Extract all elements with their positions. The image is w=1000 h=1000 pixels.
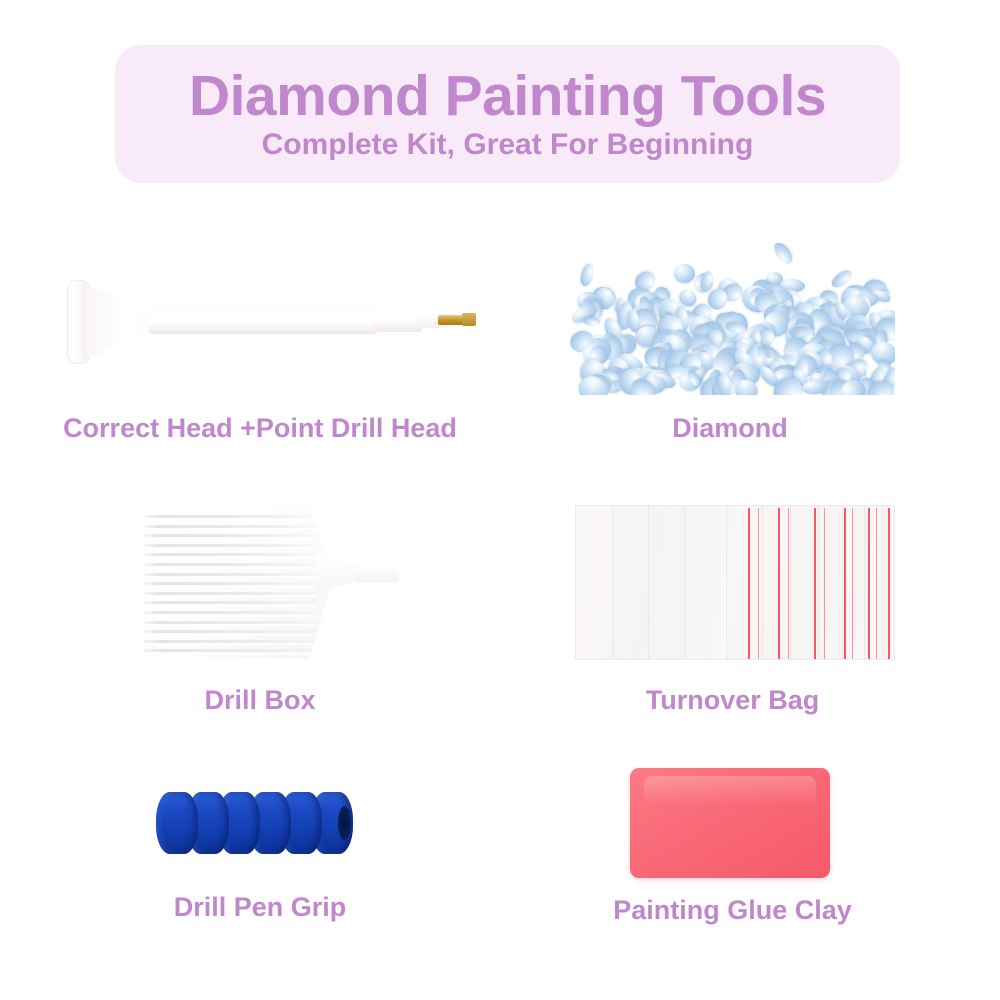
drill-tray-groove-icon <box>140 534 318 537</box>
pen-gold-tip-end-icon <box>462 313 476 326</box>
page-subtitle: Complete Kit, Great For Beginning <box>262 128 754 161</box>
product-label-drill-box: Drill Box <box>110 685 410 716</box>
drill-tray-groove-highlight-icon <box>140 557 316 559</box>
drill-tray-groove-highlight-icon <box>140 653 316 655</box>
drill-tray-groove-highlight-icon <box>140 595 316 597</box>
glue-clay-sheen-icon <box>644 776 816 806</box>
drill-tray-groove-icon <box>140 563 318 566</box>
drill-tray-groove-highlight-icon <box>140 615 316 617</box>
product-cell-diamond: Diamond <box>560 235 900 460</box>
diamond-bead-pile <box>570 243 895 395</box>
pen-shaft-icon <box>148 308 378 334</box>
zip-bag-sheet-edge-icon <box>790 506 813 659</box>
drill-pen-image <box>30 255 490 395</box>
diamond-drills-image <box>560 235 900 395</box>
page-title: Diamond Painting Tools <box>189 67 826 127</box>
drill-tray-groove-highlight-icon <box>140 643 316 645</box>
drill-tray-groove-highlight-icon <box>140 586 316 588</box>
drill-tray-groove-icon <box>140 649 318 652</box>
drill-tray-groove-icon <box>140 544 318 547</box>
pen-grip-segment-icon <box>156 792 198 854</box>
drill-tray-groove-icon <box>140 582 318 585</box>
diamond-bead-icon <box>674 264 695 283</box>
diamond-bead-icon <box>771 243 795 266</box>
pen-shaft-highlight-icon <box>155 313 370 318</box>
drill-tray-groove-icon <box>140 630 318 633</box>
zip-bag-sheet-edge-icon <box>818 506 841 659</box>
zip-bag-sheet-edge-icon <box>684 506 721 659</box>
drill-tray-groove-highlight-icon <box>140 528 316 530</box>
product-label-turnover-bag: Turnover Bag <box>560 685 905 716</box>
drill-box-image <box>110 495 410 670</box>
pen-grip-bore-hole-icon <box>338 806 351 840</box>
zip-bag-seal-line-icon <box>748 508 750 659</box>
product-cell-drill-pen-grip: Drill Pen Grip <box>110 770 410 950</box>
zip-bag-seal-line-icon <box>758 508 759 659</box>
zip-bag-sheet-edge-icon <box>612 506 649 659</box>
product-cell-correct-head-point-drill-head: Correct Head +Point Drill Head <box>30 255 490 460</box>
drill-tray-groove-highlight-icon <box>140 605 316 607</box>
drill-tray-groove-highlight-icon <box>140 624 316 626</box>
zip-bag-seal-line-icon <box>788 508 789 659</box>
product-cell-drill-box: Drill Box <box>110 495 410 745</box>
drill-tray-groove-highlight-icon <box>140 538 316 540</box>
drill-tray-groove-icon <box>140 573 318 576</box>
zip-bag-seal-line-icon <box>888 508 890 659</box>
drill-tray-groove-icon <box>140 611 318 614</box>
painting-glue-clay-image <box>560 760 905 885</box>
header-banner: Diamond Painting Tools Complete Kit, Gre… <box>115 45 900 183</box>
drill-tray-groove-highlight-icon <box>140 576 316 578</box>
drill-tray-groove-highlight-icon <box>140 519 316 521</box>
zip-bag-seal-line-icon <box>868 508 870 659</box>
zip-bag-seal-line-icon <box>876 508 877 659</box>
drill-tray-grooves-icon <box>138 507 333 659</box>
product-label-painting-glue-clay: Painting Glue Clay <box>560 895 905 926</box>
product-label-diamond: Diamond <box>560 413 900 444</box>
zip-bag-seal-line-icon <box>852 508 853 659</box>
drill-tray-groove-highlight-icon <box>140 634 316 636</box>
drill-tray-handle-icon <box>355 565 399 582</box>
diamond-bead-icon <box>579 263 596 288</box>
pen-collar-icon <box>374 310 422 332</box>
drill-tray-groove-icon <box>140 592 318 595</box>
pen-flare-icon <box>86 285 154 359</box>
zip-bag-sheet-edge-icon <box>648 506 685 659</box>
product-label-drill-pen-grip: Drill Pen Grip <box>110 892 410 923</box>
zip-bag-seal-line-icon <box>778 508 780 659</box>
drill-tray-groove-icon <box>140 621 318 624</box>
zip-bag-seal-line-icon <box>824 508 825 659</box>
drill-tray-groove-icon <box>140 525 318 528</box>
zip-bag-sheet-edge-icon <box>762 506 785 659</box>
product-cell-turnover-bag: Turnover Bag <box>560 495 905 745</box>
drill-pen-grip-image <box>110 770 410 880</box>
drill-tray-groove-highlight-icon <box>140 567 316 569</box>
drill-tray-groove-icon <box>140 601 318 604</box>
product-cell-painting-glue-clay: Painting Glue Clay <box>560 760 905 950</box>
drill-tray-groove-icon <box>140 553 318 556</box>
turnover-bag-image <box>560 495 905 670</box>
product-label-correct-head-point-drill-head: Correct Head +Point Drill Head <box>30 413 490 444</box>
zip-bag-seal-line-icon <box>814 508 816 659</box>
zip-bag-stack-icon <box>575 505 895 660</box>
drill-tray-groove-icon <box>140 640 318 643</box>
drill-tray-groove-icon <box>140 515 318 518</box>
zip-bag-seal-line-icon <box>844 508 846 659</box>
drill-tray-groove-highlight-icon <box>140 547 316 549</box>
diamond-bead-icon <box>583 316 601 326</box>
